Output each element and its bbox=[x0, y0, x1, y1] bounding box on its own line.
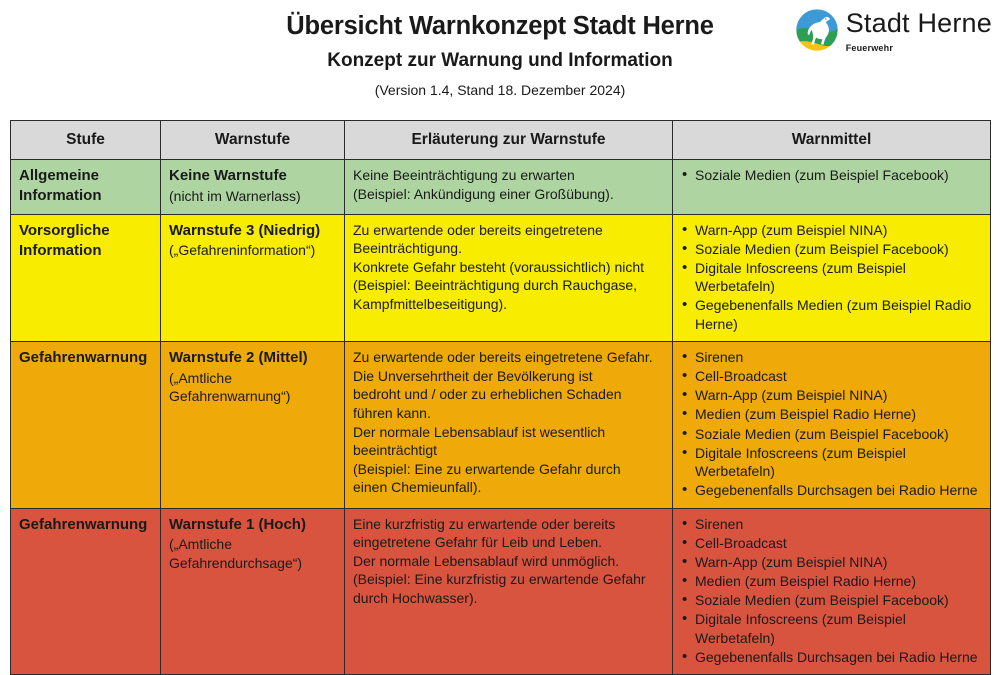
table-body: Allgemeine Information Keine Warnstufe (… bbox=[11, 160, 991, 675]
erlaeuterung-line: Keine Beeinträchtigung zu erwarten bbox=[353, 166, 664, 185]
list-item: Gegebenenfalls Medien (zum Beispiel Radi… bbox=[681, 296, 982, 333]
cell-erlaeuterung: Eine kurzfristig zu erwartende oder bere… bbox=[345, 508, 673, 674]
stadt-herne-horse-emblem-icon bbox=[795, 8, 839, 52]
cell-erlaeuterung: Keine Beeinträchtigung zu erwarten (Beis… bbox=[345, 160, 673, 215]
list-item: Digitale Infoscreens (zum Beispiel Werbe… bbox=[681, 259, 982, 296]
erlaeuterung-line: Kampfmittelbeseitigung). bbox=[353, 295, 664, 314]
erlaeuterung-line: Zu erwartende oder bereits eingetretene … bbox=[353, 348, 664, 367]
erlaeuterung-line: (Beispiel: Eine kurzfristig zu erwartend… bbox=[353, 570, 664, 589]
list-item: Soziale Medien (zum Beispiel Facebook) bbox=[681, 591, 982, 610]
warnstufe-subtitle: („Amtliche Gefahrenwarnung“) bbox=[169, 369, 336, 406]
list-item: Soziale Medien (zum Beispiel Facebook) bbox=[681, 240, 982, 259]
table-row: Gefahrenwarnung Warnstufe 2 (Mittel) („A… bbox=[11, 342, 991, 508]
warnstufe-subtitle: („Amtliche Gefahrendurchsage“) bbox=[169, 535, 336, 572]
list-item: Sirenen bbox=[681, 515, 982, 534]
table-header-row: Stufe Warnstufe Erläuterung zur Warnstuf… bbox=[11, 121, 991, 160]
list-item: Gegebenenfalls Durchsagen bei Radio Hern… bbox=[681, 648, 982, 667]
erlaeuterung-line: beeinträchtigt bbox=[353, 441, 664, 460]
erlaeuterung-line: Der normale Lebensablauf wird unmöglich. bbox=[353, 552, 664, 571]
warnstufe-title: Warnstufe 2 (Mittel) bbox=[169, 348, 336, 368]
warnmittel-list: Sirenen Cell-Broadcast Warn-App (zum Bei… bbox=[681, 515, 982, 667]
cell-erlaeuterung: Zu erwartende oder bereits eingetretene … bbox=[345, 342, 673, 508]
erlaeuterung-line: führen kann. bbox=[353, 404, 664, 423]
erlaeuterung-line: Eine kurzfristig zu erwartende oder bere… bbox=[353, 515, 664, 534]
erlaeuterung-line: Der normale Lebensablauf ist wesentlich bbox=[353, 423, 664, 442]
erlaeuterung-line: bedroht und / oder zu erheblichen Schade… bbox=[353, 385, 664, 404]
warnstufe-title: Keine Warnstufe bbox=[169, 166, 336, 186]
column-header-stufe: Stufe bbox=[11, 121, 161, 160]
cell-stufe: Gefahrenwarnung bbox=[11, 342, 161, 508]
list-item: Warn-App (zum Beispiel NINA) bbox=[681, 553, 982, 572]
logo-text-block: Stadt Herne Feuerwehr bbox=[846, 8, 992, 53]
erlaeuterung-line: Konkrete Gefahr besteht (voraussichtlich… bbox=[353, 258, 664, 277]
warnmittel-list: Warn-App (zum Beispiel NINA) Soziale Med… bbox=[681, 221, 982, 334]
cell-warnmittel: Soziale Medien (zum Beispiel Facebook) bbox=[673, 160, 991, 215]
list-item: Cell-Broadcast bbox=[681, 534, 982, 553]
page-subtitle: Konzept zur Warnung und Information bbox=[0, 50, 1000, 73]
cell-stufe: Gefahrenwarnung bbox=[11, 508, 161, 674]
cell-warnstufe: Warnstufe 2 (Mittel) („Amtliche Gefahren… bbox=[161, 342, 345, 508]
warnstufe-subtitle: (nicht im Warnerlass) bbox=[169, 187, 336, 205]
logo-city-name: Stadt Herne bbox=[846, 10, 992, 37]
list-item: Soziale Medien (zum Beispiel Facebook) bbox=[681, 425, 982, 444]
list-item: Digitale Infoscreens (zum Beispiel Werbe… bbox=[681, 444, 982, 481]
cell-warnmittel: Sirenen Cell-Broadcast Warn-App (zum Bei… bbox=[673, 342, 991, 508]
column-header-warnstufe: Warnstufe bbox=[161, 121, 345, 160]
cell-warnmittel: Sirenen Cell-Broadcast Warn-App (zum Bei… bbox=[673, 508, 991, 674]
list-item: Medien (zum Beispiel Radio Herne) bbox=[681, 572, 982, 591]
list-item: Digitale Infoscreens (zum Beispiel Werbe… bbox=[681, 610, 982, 647]
cell-warnstufe: Keine Warnstufe (nicht im Warnerlass) bbox=[161, 160, 345, 215]
erlaeuterung-line: Beeinträchtigung. bbox=[353, 239, 664, 258]
column-header-erlaeuterung: Erläuterung zur Warnstufe bbox=[345, 121, 673, 160]
warnmittel-list: Soziale Medien (zum Beispiel Facebook) bbox=[681, 166, 982, 185]
table-row: Gefahrenwarnung Warnstufe 1 (Hoch) („Amt… bbox=[11, 508, 991, 674]
list-item: Sirenen bbox=[681, 348, 982, 367]
cell-warnmittel: Warn-App (zum Beispiel NINA) Soziale Med… bbox=[673, 214, 991, 342]
list-item: Gegebenenfalls Durchsagen bei Radio Hern… bbox=[681, 481, 982, 500]
warnkonzept-table: Stufe Warnstufe Erläuterung zur Warnstuf… bbox=[10, 120, 991, 675]
page-header: Übersicht Warnkonzept Stadt Herne Konzep… bbox=[0, 0, 1000, 118]
cell-erlaeuterung: Zu erwartende oder bereits eingetretene … bbox=[345, 214, 673, 342]
warnstufe-subtitle: („Gefahreninformation“) bbox=[169, 241, 336, 259]
stadt-herne-logo: Stadt Herne Feuerwehr bbox=[795, 8, 992, 53]
erlaeuterung-line: (Beispiel: Eine zu erwartende Gefahr dur… bbox=[353, 460, 664, 479]
erlaeuterung-line: (Beispiel: Ankündigung einer Großübung). bbox=[353, 185, 664, 204]
version-line: (Version 1.4, Stand 18. Dezember 2024) bbox=[0, 82, 1000, 99]
erlaeuterung-line: Zu erwartende oder bereits eingetretene bbox=[353, 221, 664, 240]
table-row: Allgemeine Information Keine Warnstufe (… bbox=[11, 160, 991, 215]
list-item: Warn-App (zum Beispiel NINA) bbox=[681, 221, 982, 240]
column-header-warnmittel: Warnmittel bbox=[673, 121, 991, 160]
table-row: Vorsorgliche Information Warnstufe 3 (Ni… bbox=[11, 214, 991, 342]
warnstufe-title: Warnstufe 1 (Hoch) bbox=[169, 515, 336, 535]
erlaeuterung-line: durch Hochwasser). bbox=[353, 589, 664, 608]
cell-warnstufe: Warnstufe 1 (Hoch) („Amtliche Gefahrendu… bbox=[161, 508, 345, 674]
cell-warnstufe: Warnstufe 3 (Niedrig) („Gefahreninformat… bbox=[161, 214, 345, 342]
erlaeuterung-line: Die Unversehrtheit der Bevölkerung ist bbox=[353, 367, 664, 386]
logo-department-name: Feuerwehr bbox=[846, 44, 992, 53]
warnstufe-title: Warnstufe 3 (Niedrig) bbox=[169, 221, 336, 241]
list-item: Medien (zum Beispiel Radio Herne) bbox=[681, 405, 982, 424]
list-item: Soziale Medien (zum Beispiel Facebook) bbox=[681, 166, 982, 185]
list-item: Warn-App (zum Beispiel NINA) bbox=[681, 386, 982, 405]
cell-stufe: Allgemeine Information bbox=[11, 160, 161, 215]
erlaeuterung-line: eingetretene Gefahr für Leib und Leben. bbox=[353, 533, 664, 552]
cell-stufe: Vorsorgliche Information bbox=[11, 214, 161, 342]
warnkonzept-table-wrapper: Stufe Warnstufe Erläuterung zur Warnstuf… bbox=[10, 120, 990, 675]
erlaeuterung-line: einen Chemieunfall). bbox=[353, 478, 664, 497]
warnmittel-list: Sirenen Cell-Broadcast Warn-App (zum Bei… bbox=[681, 348, 982, 500]
list-item: Cell-Broadcast bbox=[681, 367, 982, 386]
erlaeuterung-line: (Beispiel: Beeinträchtigung durch Rauchg… bbox=[353, 276, 664, 295]
